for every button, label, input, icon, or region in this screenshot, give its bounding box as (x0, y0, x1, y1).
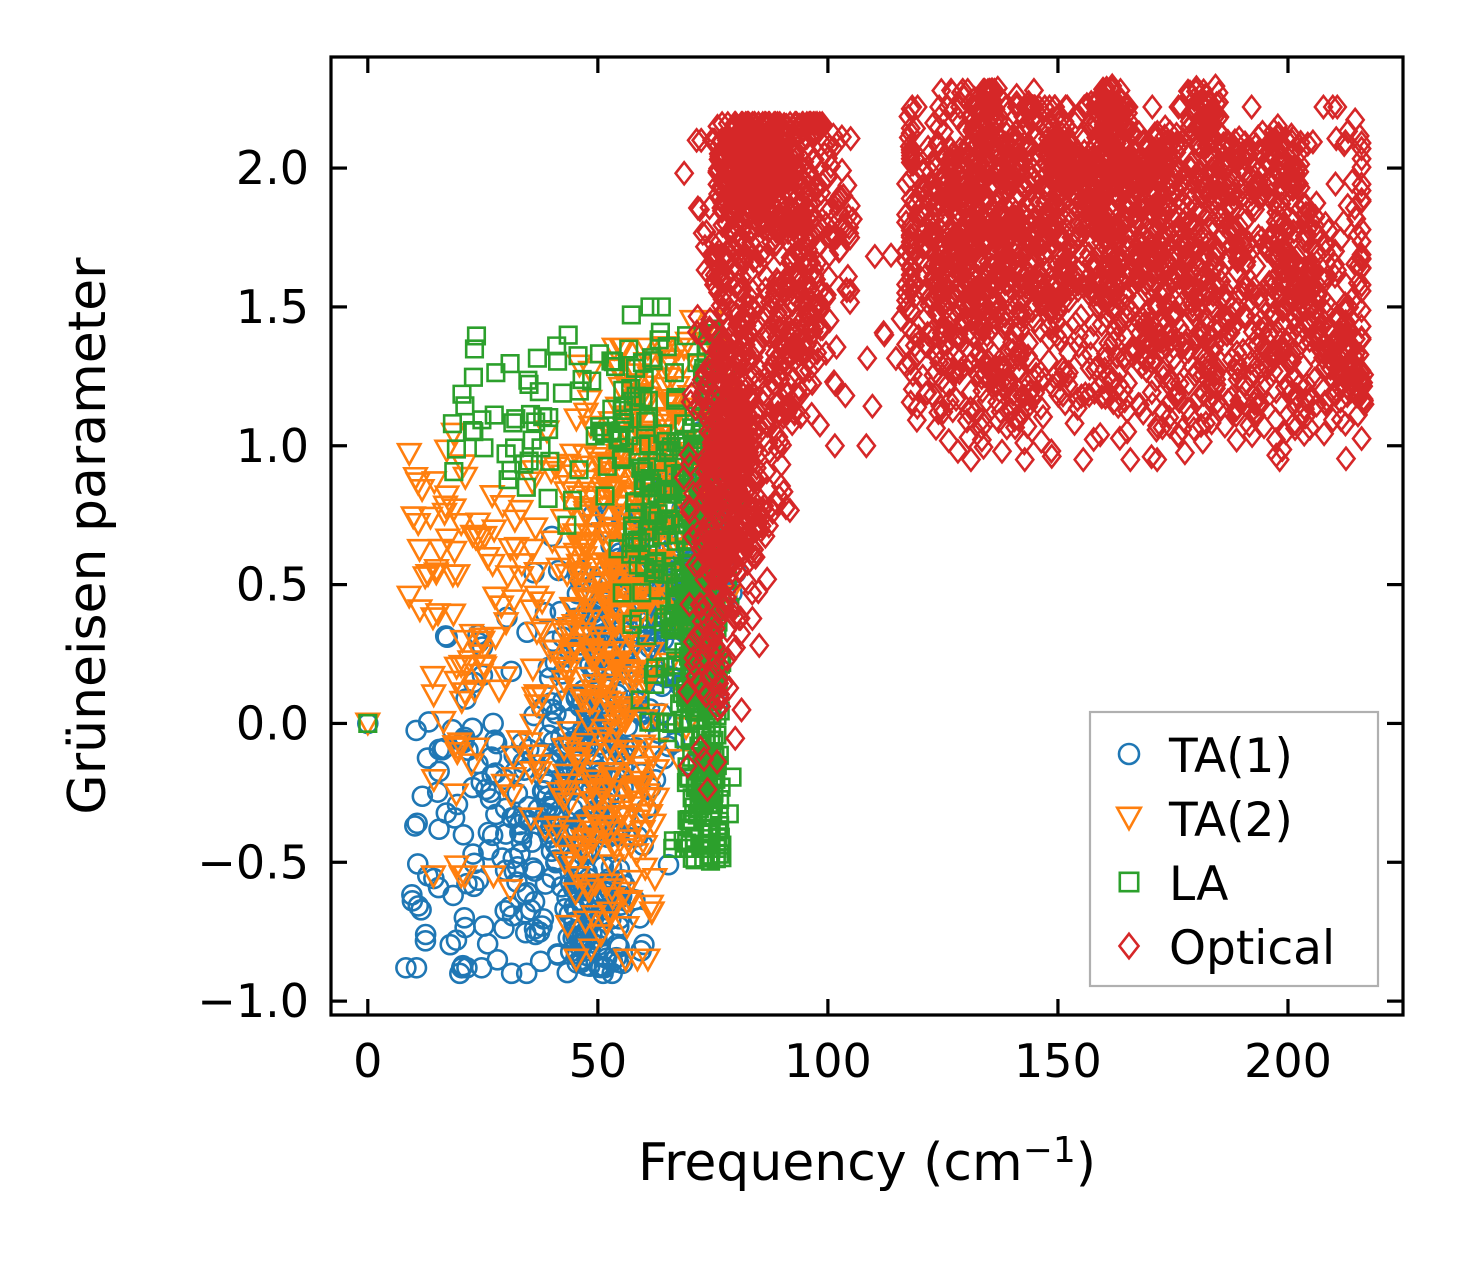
scatter-plot: 050100150200−1.0−0.50.00.51.01.52.0 Freq… (0, 0, 1462, 1264)
y-tick-label: 0.0 (236, 696, 309, 750)
x-tick-label: 50 (569, 1034, 628, 1088)
legend-label: LA (1169, 857, 1228, 912)
legend-label: TA(1) (1168, 729, 1293, 784)
series-optical (675, 75, 1373, 801)
x-tick-label: 100 (784, 1034, 872, 1088)
x-axis-title-exponent: −1 (1023, 1130, 1076, 1171)
legend-label: TA(2) (1168, 793, 1293, 848)
y-axis-title: Grüneisen parameter (58, 257, 118, 815)
plot-legend[interactable]: TA(1)TA(2)LAOptical (1090, 712, 1378, 986)
x-axis-title-main: Frequency (cm (638, 1133, 1023, 1193)
y-tick-label: 2.0 (236, 141, 309, 195)
legend-label: Optical (1169, 921, 1335, 976)
y-tick-label: 1.5 (236, 280, 309, 334)
x-tick-label: 200 (1244, 1034, 1332, 1088)
x-tick-label: 0 (353, 1034, 382, 1088)
x-tick-label: 150 (1014, 1034, 1102, 1088)
y-tick-label: 0.5 (236, 558, 309, 612)
y-tick-label: 1.0 (236, 419, 309, 473)
figure-canvas: 050100150200−1.0−0.50.00.51.01.52.0 Freq… (0, 0, 1462, 1264)
y-tick-label: −0.5 (197, 835, 309, 889)
y-tick-label: −1.0 (197, 974, 309, 1028)
x-axis-title: Frequency (cm−1) (638, 1130, 1096, 1193)
x-axis-title-tail: ) (1076, 1133, 1096, 1193)
